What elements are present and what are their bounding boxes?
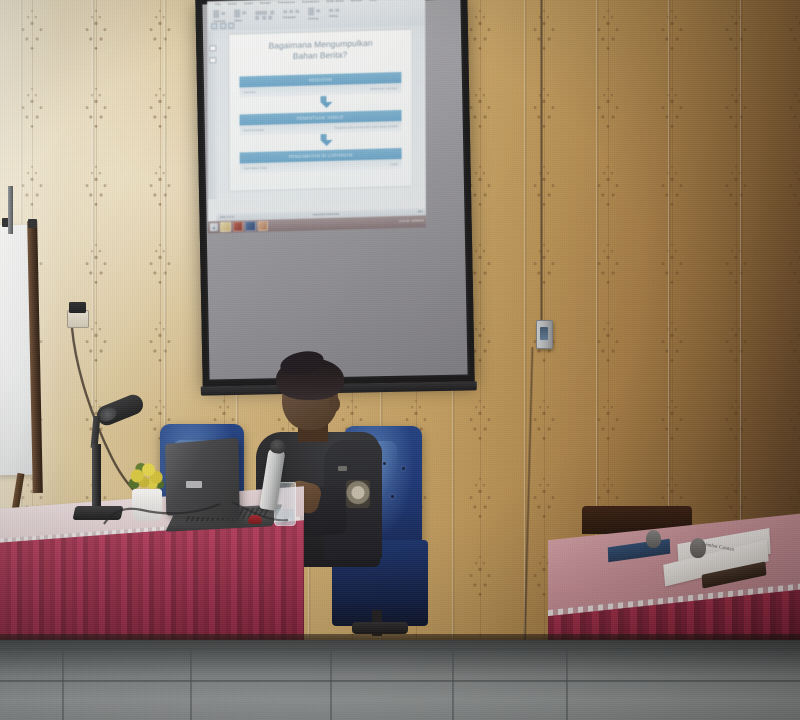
find-icon[interactable] <box>329 9 333 13</box>
chair-tuft <box>391 495 394 498</box>
flow-step-2: PENENTUAN 'ANGLE' Buat Kerangka Tetapkan… <box>240 110 402 136</box>
flow-step-sub-right: Tetapkan fokus berita dari sudut yang me… <box>334 124 397 130</box>
slide-thumbnail-pane[interactable]: 2 3 <box>207 31 217 199</box>
ribbon-group-label: Drawing <box>308 16 320 20</box>
desk-cables <box>100 498 320 558</box>
redo-icon[interactable] <box>228 23 234 29</box>
room-photo-scene: File Home Insert Design Transitions Anim… <box>0 0 800 720</box>
shapes-icon[interactable] <box>308 7 314 15</box>
power-outlet-icon <box>67 310 89 328</box>
ribbon-group-label: Slides <box>234 18 246 22</box>
ribbon-group[interactable] <box>256 11 274 20</box>
powerpoint-icon[interactable] <box>257 220 268 231</box>
flow-step-sub-left: Interview <box>243 90 255 94</box>
flow-step-sub-left: Cari Fakta / Data <box>244 166 267 171</box>
word-icon[interactable] <box>245 221 256 232</box>
blue-folder-icon <box>608 539 670 563</box>
chair-right-base <box>352 622 408 634</box>
flow-step-sub-right: Catat <box>390 162 397 166</box>
font-size-icon[interactable] <box>270 11 274 15</box>
ribbon-group[interactable]: Editing <box>329 9 339 18</box>
flipchart-clip-right <box>28 219 37 228</box>
slide-thumbnail[interactable]: 2 <box>209 45 217 52</box>
slide-title: Bagaimana Mengumpulkan Bahan Berita? <box>229 37 412 64</box>
ribbon-tab[interactable]: Transitions <box>278 0 295 4</box>
ribbon-command-groups[interactable]: Clipboard Slides Paragraph <box>213 4 421 23</box>
ribbon-tab[interactable]: View <box>369 0 376 2</box>
chair-tuft <box>383 462 386 465</box>
ribbon-group[interactable]: Drawing <box>308 7 320 20</box>
floor-grout-line <box>452 650 454 720</box>
system-tray[interactable]: 10:41 AM 29/08/2019 <box>399 220 424 223</box>
flipchart-easel <box>0 225 46 525</box>
status-zoom-level[interactable]: 68% <box>418 210 423 213</box>
save-icon[interactable] <box>211 23 217 29</box>
ribbon-group[interactable]: Clipboard <box>213 10 225 23</box>
arrange-icon[interactable] <box>316 9 320 13</box>
floor-grout-line <box>0 648 800 650</box>
slide-thumbnail[interactable]: 3 <box>209 57 217 64</box>
ribbon-group-label: Paragraph <box>283 15 299 19</box>
floor-grout-line <box>190 650 192 720</box>
person-badge <box>338 466 347 471</box>
layout-icon[interactable] <box>243 11 247 15</box>
browser-icon[interactable] <box>232 221 243 232</box>
floor-grout-line <box>0 680 800 682</box>
folder-icon[interactable] <box>220 222 231 233</box>
clipboard-icon[interactable] <box>213 10 219 18</box>
font-name-icon[interactable] <box>256 11 268 15</box>
paperweight-stone <box>646 530 661 548</box>
floor-grout-line <box>62 650 64 720</box>
bullets-icon[interactable] <box>283 10 287 14</box>
powerpoint-ribbon: File Home Insert Design Transitions Anim… <box>207 0 425 31</box>
flow-step-sub-left: Buat Kerangka <box>244 128 264 133</box>
ribbon-group[interactable]: Paragraph <box>283 10 299 19</box>
ribbon-tab[interactable]: Slide Show <box>326 0 343 3</box>
ribbon-tab-strip[interactable]: File Home Insert Design Transitions Anim… <box>215 0 376 6</box>
replace-icon[interactable] <box>335 9 339 13</box>
floor-grout-line <box>566 650 568 720</box>
paste-icon[interactable] <box>221 12 225 16</box>
flow-step-1: KEGIATAN Interview Referensi / Literatur <box>239 72 401 98</box>
person-ear <box>329 396 340 412</box>
tray-time: 10:41 AM <box>399 220 410 223</box>
flow-step-3: PENGAMATAN DI LAPANGAN Cari Fakta / Data… <box>240 148 402 174</box>
ceiling-cable <box>540 0 543 322</box>
ribbon-tab[interactable]: File <box>215 2 221 6</box>
start-orb-icon[interactable]: ● <box>210 223 218 231</box>
powerpoint-window: File Home Insert Design Transitions Anim… <box>207 0 426 233</box>
laptop-logo <box>186 481 202 488</box>
tiled-floor <box>0 640 800 720</box>
projected-desktop: File Home Insert Design Transitions Anim… <box>207 0 426 233</box>
ribbon-group-label: Editing <box>329 14 339 18</box>
ribbon-tab[interactable]: Review <box>351 0 362 2</box>
status-slide-counter: Slide 3 of 12 <box>220 216 234 219</box>
quick-access-toolbar[interactable] <box>211 23 234 30</box>
floor-grout-line <box>330 650 332 720</box>
flow-step-sub-right: Referensi / Literatur <box>370 86 397 91</box>
flipchart-upper-pole <box>8 186 13 234</box>
wall-switch-icon[interactable] <box>536 320 553 349</box>
ribbon-tab[interactable]: Home <box>228 2 237 6</box>
ribbon-tab[interactable]: Insert <box>244 1 253 5</box>
ribbon-group[interactable]: Slides <box>234 9 246 22</box>
numbering-icon[interactable] <box>289 10 293 14</box>
ribbon-tab[interactable]: Animations <box>302 0 319 4</box>
new-slide-icon[interactable] <box>234 9 240 17</box>
projector-screen: File Home Insert Design Transitions Anim… <box>195 0 474 387</box>
tray-date: 29/08/2019 <box>411 220 424 223</box>
status-language: Indonesian (Indonesia) <box>313 213 339 217</box>
active-slide[interactable]: Bagaimana Mengumpulkan Bahan Berita? KEG… <box>229 30 412 191</box>
side-table-items: Lembar Catatan <box>606 534 766 584</box>
person-shoulder-emblem <box>346 480 370 508</box>
bold-icon[interactable] <box>256 16 260 20</box>
italic-icon[interactable] <box>262 16 266 20</box>
ribbon-tab[interactable]: Design <box>260 1 271 5</box>
underline-icon[interactable] <box>268 16 272 20</box>
align-left-icon[interactable] <box>295 10 299 14</box>
chair-tuft <box>402 467 405 470</box>
undo-icon[interactable] <box>220 23 226 29</box>
